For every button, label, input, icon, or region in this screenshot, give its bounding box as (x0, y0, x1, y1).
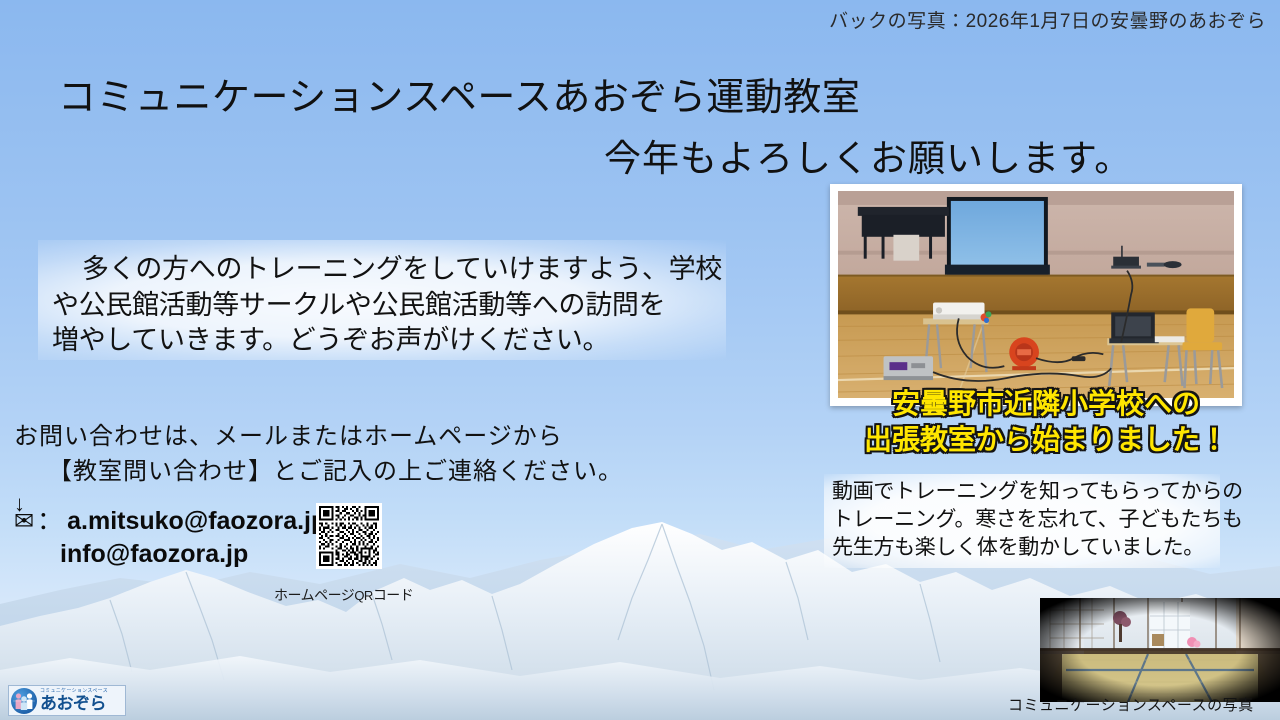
page-title: コミュニケーションスペースあおぞら運動教室 (58, 66, 860, 121)
slide-canvas: バックの写真：2026年1月7日の安曇野のあおぞら コミュニケーションスペースあ… (0, 0, 1280, 720)
contact-instructions: お問い合わせは、メールまたはホームページから 【教室問い合わせ】とご記入の上ご連… (14, 420, 623, 516)
photo-caption-box: 動画でトレーニングを知ってもらってからの トレーニング。寒さを忘れて、子どもたち… (824, 474, 1220, 568)
overlay-line-1: 安曇野市近隣小学校への (846, 386, 1246, 422)
body-paragraph: 多くの方へのトレーニングをしていけますよう、学校 や公民館活動等サークルや公民館… (52, 252, 712, 359)
logo-name: あおぞら (40, 695, 109, 712)
body-line-1: 多くの方へのトレーニングをしていけますよう、学校 (52, 252, 712, 288)
email-colon: ： (37, 505, 62, 537)
background-photo-credit: バックの写真：2026年1月7日の安曇野のあおぞら (829, 6, 1266, 33)
logo-figures-icon (11, 688, 37, 714)
email-block: ✉ ： a.mitsuko@faozora.jp info@faozora.jp (14, 505, 326, 570)
logo-tagline: コミュニケーションスペース (40, 689, 108, 694)
body-paragraph-text: 多くの方へのトレーニングをしていけますよう、学校 や公民館活動等サークルや公民館… (52, 252, 712, 359)
contact-line-2: 【教室問い合わせ】とご記入の上ご連絡ください。 (14, 455, 623, 490)
email-row-primary[interactable]: ✉ ： a.mitsuko@faozora.jp (14, 505, 326, 538)
qr-caption-latin: QR (354, 588, 373, 603)
gym-photo-frame (830, 184, 1242, 406)
logo-text-wrap: コミュニケーションスペース あおぞら (40, 689, 109, 712)
email-address-primary[interactable]: a.mitsuko@faozora.jp (67, 505, 326, 537)
aozora-logo[interactable]: コミュニケーションスペース あおぞら (8, 685, 126, 716)
contact-line-1: お問い合わせは、メールまたはホームページから (14, 423, 563, 450)
qr-caption-jp2: コード (373, 587, 414, 603)
photo-overlay-headline: 安曇野市近隣小学校への 出張教室から始まりました！ (846, 386, 1246, 458)
envelope-icon: ✉ (14, 507, 34, 538)
gym-photo-image (838, 191, 1234, 398)
caption-line-3: 先生方も楽しく体を動かしていました。 (832, 534, 1214, 562)
caption-line-1: 動画でトレーニングを知ってもらってからの (832, 478, 1214, 506)
body-line-2: や公民館活動等サークルや公民館活動等への訪問を (52, 288, 712, 324)
tatami-room-photo (1040, 598, 1280, 702)
qr-code-caption: ホームページQRコード (274, 585, 413, 605)
qr-caption-jp1: ホームページ (274, 587, 354, 603)
caption-line-2: トレーニング。寒さを忘れて、子どもたちも (832, 506, 1214, 534)
tatami-photo-caption: コミュニケーションスペースの写真 (1008, 694, 1254, 715)
qr-code-image (319, 506, 379, 566)
overlay-line-2: 出張教室から始まりました！ (846, 422, 1246, 458)
body-line-3: 増やしていきます。どうぞお声がけください。 (52, 323, 712, 359)
email-address-secondary[interactable]: info@faozora.jp (14, 538, 326, 570)
page-subtitle: 今年もよろしくお願いします。 (604, 128, 1132, 182)
homepage-qr-code[interactable] (316, 503, 382, 569)
logo-people-icon (11, 688, 37, 714)
